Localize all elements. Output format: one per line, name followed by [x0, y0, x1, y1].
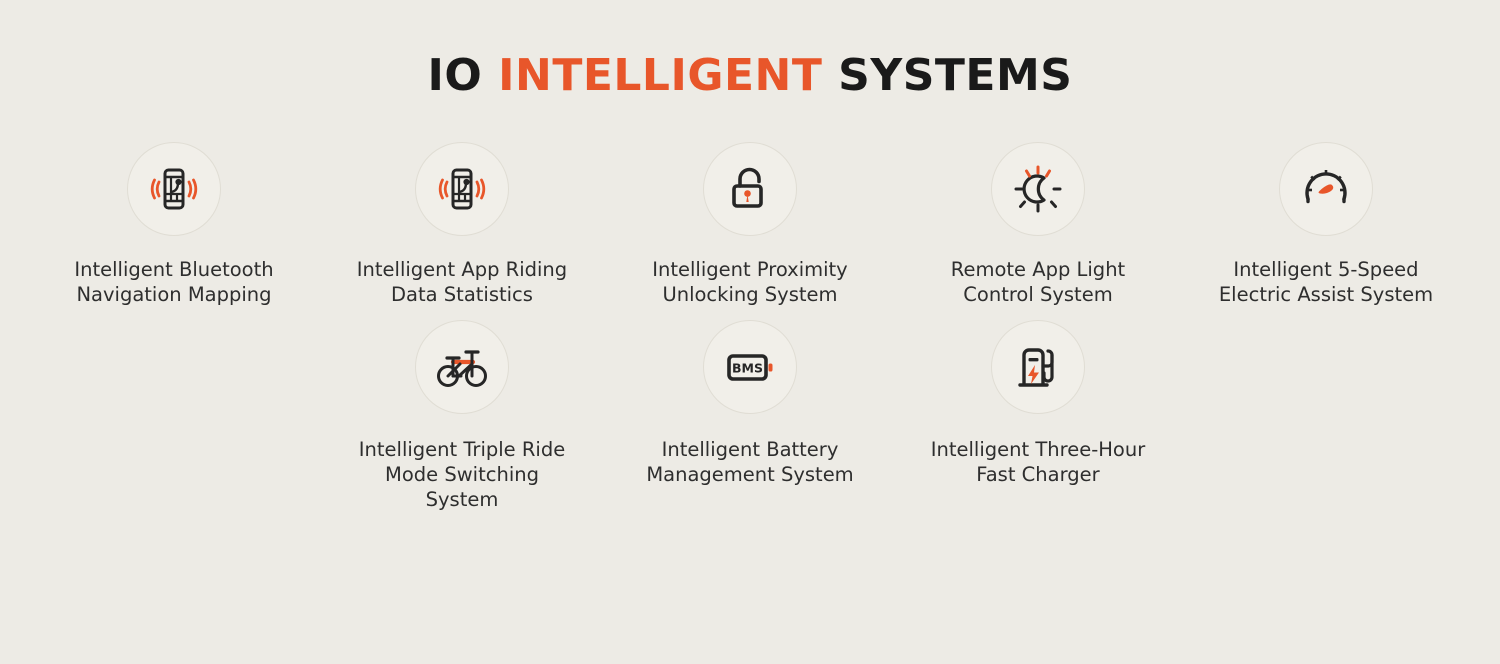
title-segment-systems: SYSTEMS	[822, 50, 1072, 101]
feature-item-bluetooth-navigation[interactable]: Intelligent Bluetooth Navigation Mapping	[30, 142, 318, 308]
feature-label: Remote App Light Control System	[951, 258, 1125, 308]
phone-map-signal-icon	[415, 142, 509, 236]
page-title: IO INTELLIGENT SYSTEMS	[0, 0, 1500, 98]
feature-label: Intelligent Triple Ride Mode Switching S…	[359, 438, 565, 513]
feature-label: Intelligent Three-Hour Fast Charger	[931, 438, 1145, 488]
moon-rays-icon	[991, 142, 1085, 236]
phone-map-signal-icon	[127, 142, 221, 236]
feature-item-remote-light-control[interactable]: Remote App Light Control System	[894, 142, 1182, 308]
feature-item-proximity-unlocking[interactable]: Intelligent Proximity Unlocking System	[606, 142, 894, 308]
title-segment-io: IO	[428, 50, 499, 101]
feature-label: Intelligent Battery Management System	[646, 438, 853, 488]
feature-label: Intelligent Proximity Unlocking System	[652, 258, 847, 308]
features-grid: Intelligent Bluetooth Navigation Mapping…	[0, 142, 1500, 513]
title-segment-intelligent: INTELLIGENT	[498, 50, 822, 101]
open-padlock-icon	[703, 142, 797, 236]
feature-item-fast-charger[interactable]: Intelligent Three-Hour Fast Charger	[894, 320, 1182, 513]
charging-station-icon	[991, 320, 1085, 414]
feature-label: Intelligent Bluetooth Navigation Mapping	[74, 258, 273, 308]
speedometer-icon	[1279, 142, 1373, 236]
bms-battery-icon: BMS	[703, 320, 797, 414]
bms-label: BMS	[732, 360, 763, 375]
feature-item-app-riding-data[interactable]: Intelligent App Riding Data Statistics	[318, 142, 606, 308]
feature-item-5-speed-assist[interactable]: Intelligent 5-Speed Electric Assist Syst…	[1182, 142, 1470, 308]
feature-item-battery-management[interactable]: BMS Intelligent Battery Management Syste…	[606, 320, 894, 513]
feature-item-triple-ride-mode[interactable]: Intelligent Triple Ride Mode Switching S…	[318, 320, 606, 513]
feature-label: Intelligent 5-Speed Electric Assist Syst…	[1219, 258, 1433, 308]
folding-bicycle-icon	[415, 320, 509, 414]
feature-label: Intelligent App Riding Data Statistics	[357, 258, 567, 308]
